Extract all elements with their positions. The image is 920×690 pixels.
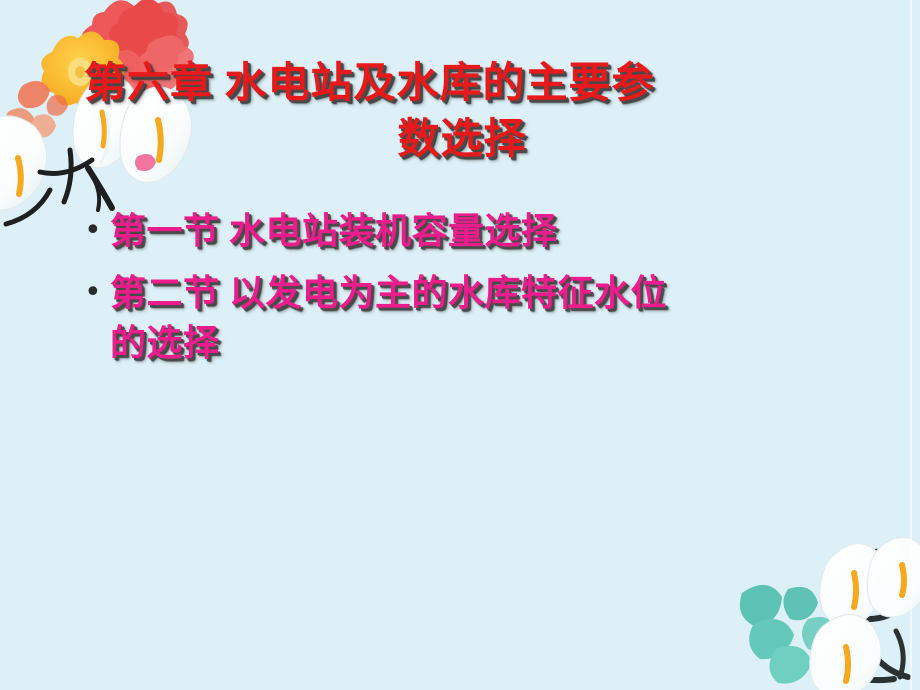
calla-lily-a [820, 543, 886, 626]
presentation-slide: 第六章 水电站及水库的主要参 数选择 • 第一节 水电站装机容量选择 • 第二节… [0, 0, 920, 690]
teal-leaves [740, 585, 848, 684]
calla-lily-b [867, 537, 920, 617]
bullet-text-2: 第二节 以发电为主的水库特征水位 [110, 273, 667, 313]
bullet-marker-icon: • [84, 268, 110, 318]
list-item: • 第一节 水电站装机容量选择 [84, 206, 874, 256]
slide-title-line-2: 数选择 [58, 112, 866, 168]
slide-bullet-list: • 第一节 水电站装机容量选择 • 第二节 以发电为主的水库特征水位 的选择 [84, 206, 874, 380]
calla-lily-and-teal-leaves-artwork [736, 523, 920, 690]
bullet-marker-icon: • [84, 206, 110, 256]
calla-lily-3 [0, 116, 47, 211]
bullet-text-2-wrap: 的选择 [110, 318, 874, 368]
calla-lily-c [810, 614, 881, 690]
flower-stems [844, 552, 908, 680]
slide-title: 第六章 水电站及水库的主要参 数选择 [58, 56, 866, 168]
slide-title-line-1: 第六章 水电站及水库的主要参 [58, 56, 866, 112]
bullet-text-1: 第一节 水电站装机容量选择 [110, 206, 874, 256]
bullet-text-2-group: 第二节 以发电为主的水库特征水位 的选择 [110, 268, 874, 368]
list-item: • 第二节 以发电为主的水库特征水位 的选择 [84, 268, 874, 368]
